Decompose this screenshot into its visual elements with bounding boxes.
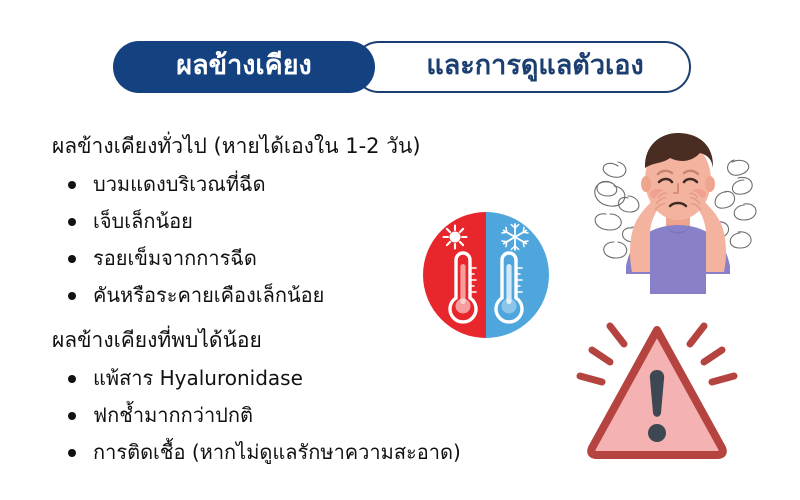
exclamation-dot xyxy=(648,424,666,442)
ear-right xyxy=(705,176,715,192)
slide-canvas: ผลข้างเคียง และการดูแลตัวเอง ผลข้างเคียง… xyxy=(0,0,800,500)
ear-left xyxy=(641,176,651,192)
bullet-dot-icon xyxy=(68,449,76,457)
bullet-dot-icon xyxy=(68,255,76,263)
section-heading-common: ผลข้างเคียงทั่วไป (หายได้เองใน 1-2 วัน) xyxy=(52,130,522,162)
sun-icon xyxy=(444,226,467,249)
bullet-dot-icon xyxy=(68,412,76,420)
list-item-label: ฟกช้ำมากกว่าปกติ xyxy=(93,403,253,427)
warning-triangle-icon xyxy=(562,308,752,468)
header-title-primary: ผลข้างเคียง xyxy=(113,41,375,93)
bullet-dot-icon xyxy=(68,292,76,300)
list-item-label: รอยเข็มจากการฉีด xyxy=(93,246,257,270)
list-item-label: คันหรือระคายเคืองเล็กน้อย xyxy=(93,283,324,307)
list-item-label: แพ้สาร Hyaluronidase xyxy=(93,366,303,390)
bullet-dot-icon xyxy=(68,375,76,383)
header-title-secondary: และการดูแลตัวเอง xyxy=(353,41,691,93)
list-item-label: เจ็บเล็กน้อย xyxy=(93,209,193,233)
rare-side-effects-list: แพ้สาร Hyaluronidase ฟกช้ำมากกว่าปกติ กา… xyxy=(52,360,522,471)
list-item: แพ้สาร Hyaluronidase xyxy=(52,360,522,397)
list-item: บวมแดงบริเวณที่ฉีด xyxy=(52,166,522,203)
list-item: การติดเชื้อ (หากไม่ดูแลรักษาความสะอาด) xyxy=(52,434,522,471)
radiating-lines-right xyxy=(690,326,734,382)
bullet-dot-icon xyxy=(68,218,76,226)
bullet-dot-icon xyxy=(68,181,76,189)
list-item-label: บวมแดงบริเวณที่ฉีด xyxy=(93,172,266,196)
header-banner: ผลข้างเคียง และการดูแลตัวเอง xyxy=(113,41,691,93)
list-item: ฟกช้ำมากกว่าปกติ xyxy=(52,397,522,434)
list-item-label: การติดเชื้อ (หากไม่ดูแลรักษาความสะอาด) xyxy=(93,440,461,464)
stressed-person-illustration xyxy=(588,122,768,294)
hot-cold-thermometer-icon xyxy=(423,212,549,338)
radiating-lines-left xyxy=(580,326,624,382)
